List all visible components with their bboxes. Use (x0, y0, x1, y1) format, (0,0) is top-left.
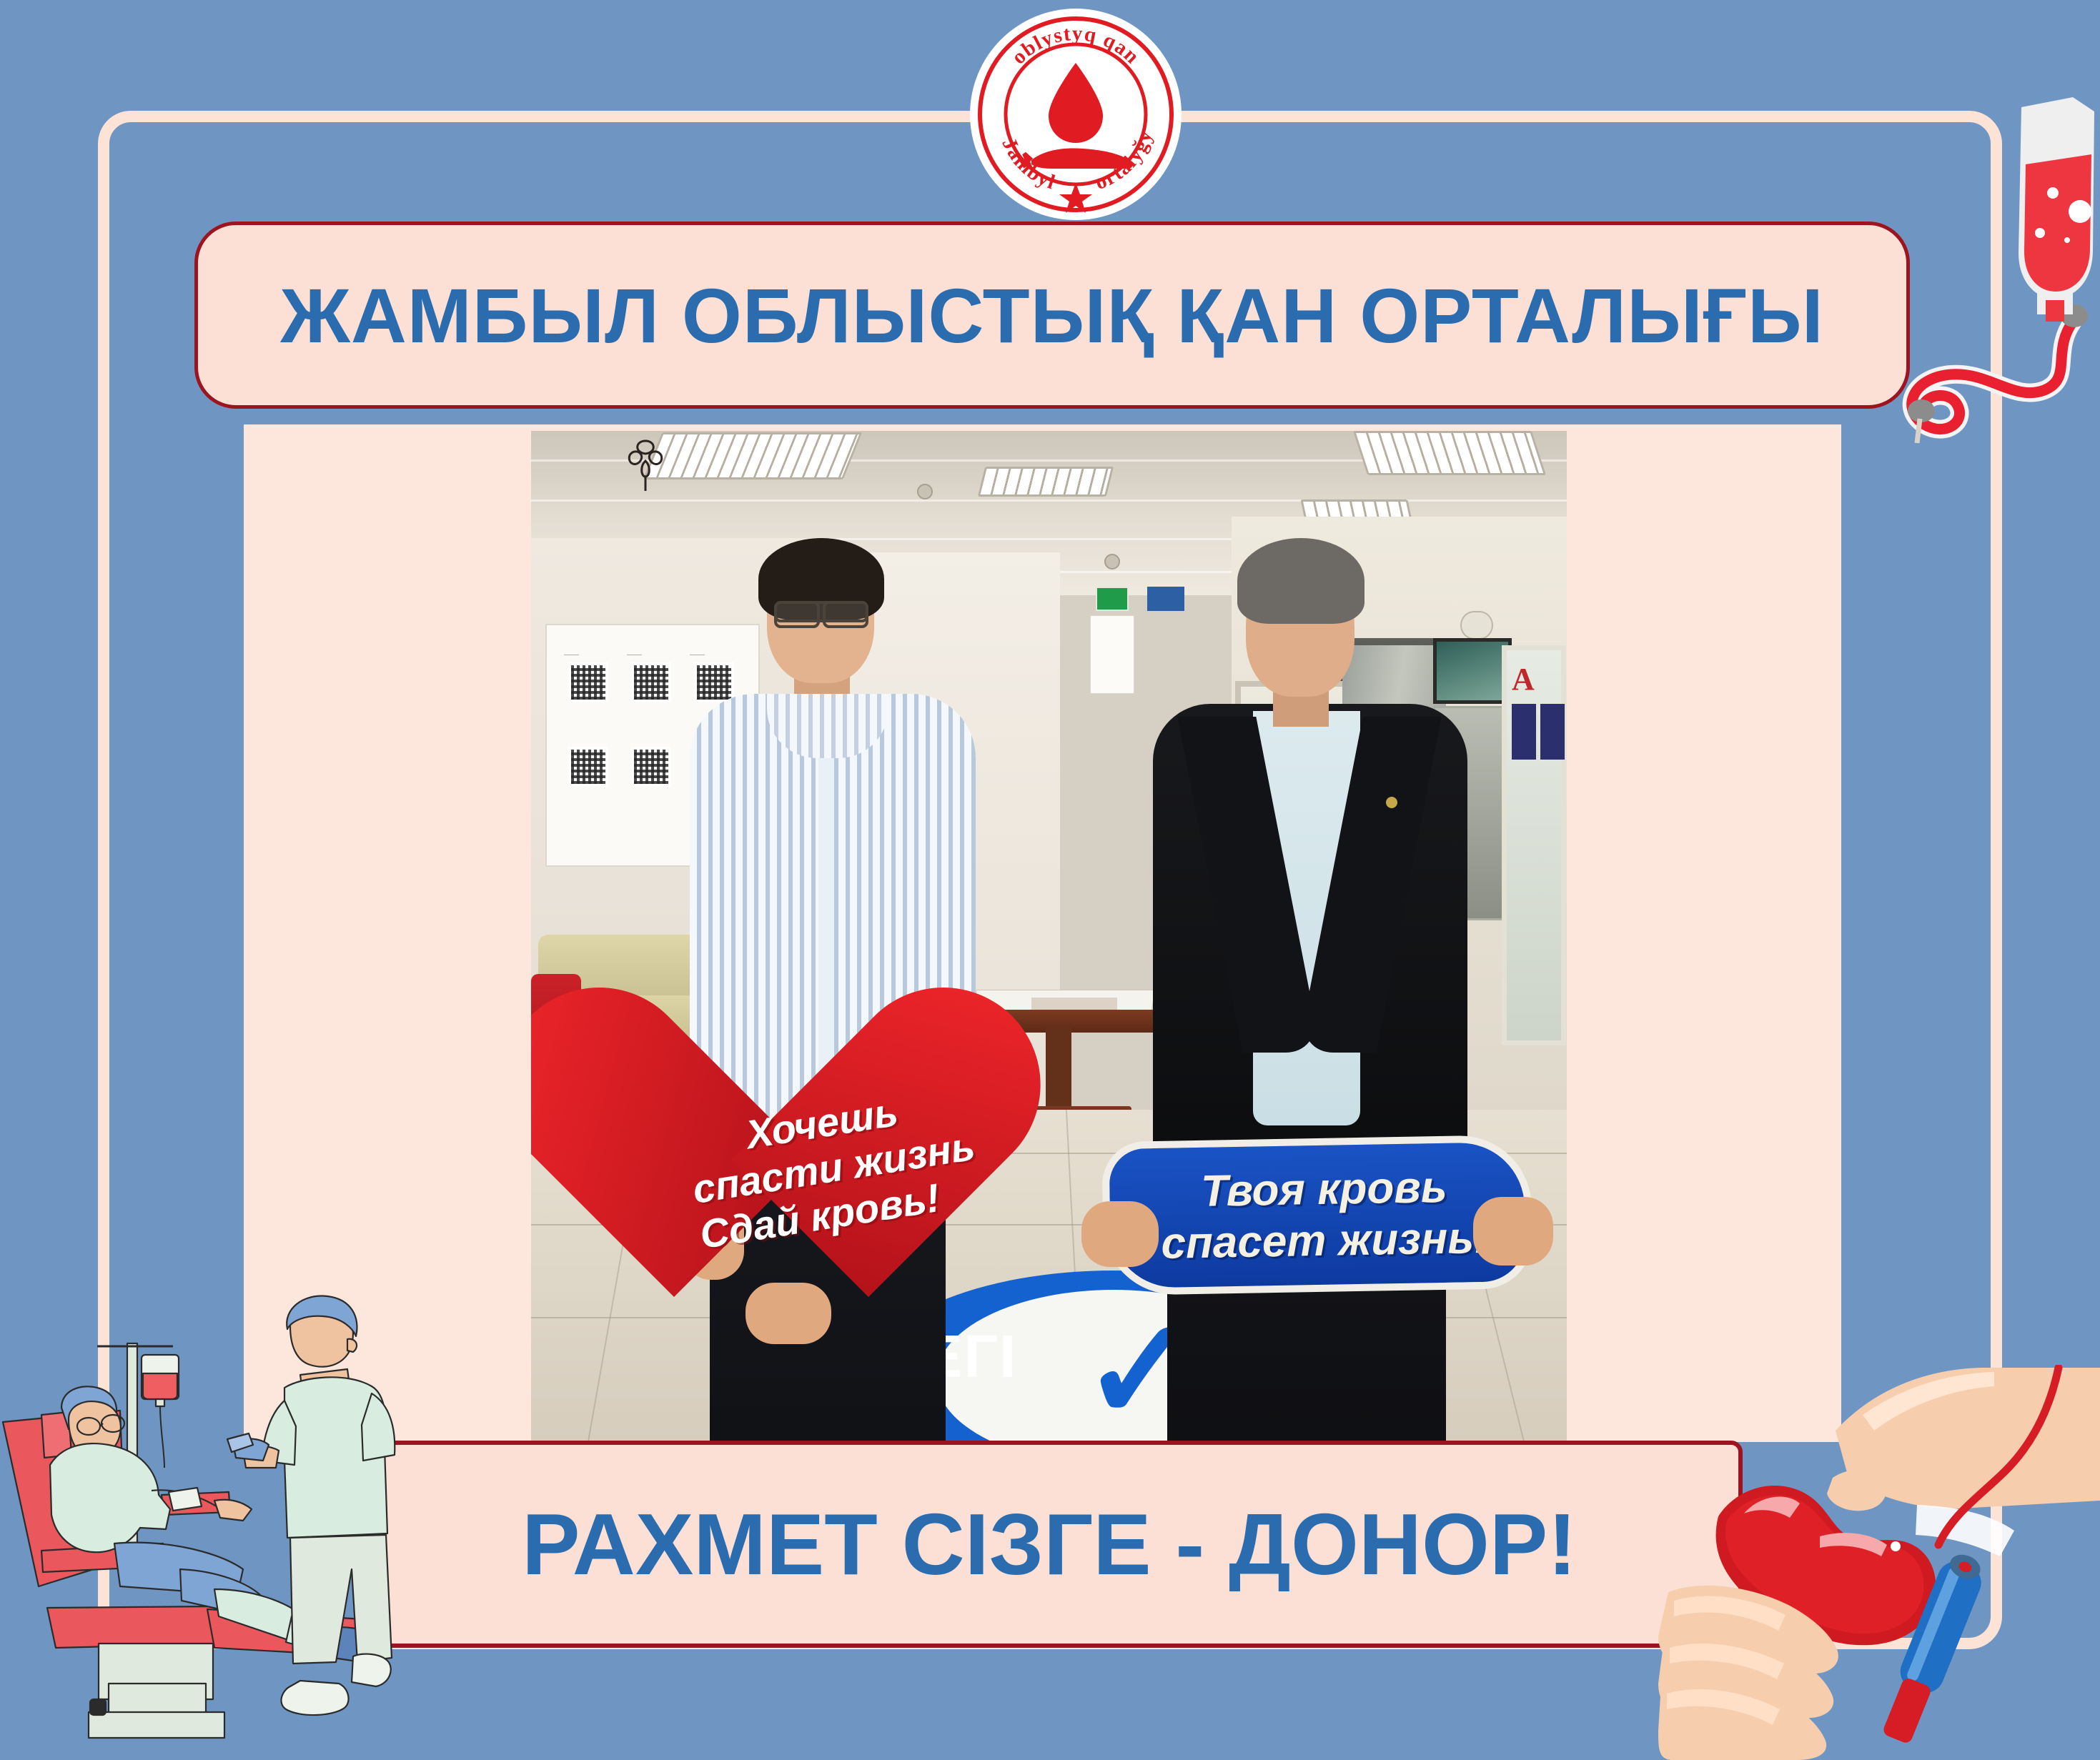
person-right-hand-right (1473, 1197, 1553, 1266)
blue-sign-line-2: спасет жизнь! (1127, 1212, 1522, 1271)
person-left-hand-lower (746, 1283, 831, 1344)
hand-squeeze-ball-illustration (1658, 1365, 2100, 1760)
blue-sign-line-1: Твоя кровь (1126, 1160, 1522, 1219)
wall-ornament-icon (624, 437, 667, 492)
title-banner: ЖАМБЫЛ ОБЛЫСТЫҚ ҚАН ОРТАЛЫҒЫ (194, 222, 1910, 409)
emergency-exit-sign (1096, 587, 1129, 611)
blood-bag-icon (2019, 97, 2094, 322)
blue-sign-text: Твоя кровь спасет жизнь! (1126, 1160, 1522, 1271)
person-right-hair (1237, 538, 1364, 624)
blue-wall-plate (1147, 587, 1184, 611)
room-letter-sign: A (1512, 661, 1535, 697)
coffee-table-column (1046, 1028, 1071, 1113)
person-left-glasses (774, 601, 868, 622)
red-heart-sign: Хочешь спасти жизнь Сдай кровь! (665, 990, 1037, 1347)
jambyl-blood-centre-logo-icon: oblystyq qan Jambyl ortalyğy (969, 7, 1183, 222)
caption-banner: РАХМЕТ СІЗГЕ - ДОНОР! (356, 1441, 1743, 1648)
blood-bag-illustration (1737, 86, 2100, 486)
page-title: ЖАМБЫЛ ОБЛЫСТЫҚ ҚАН ОРТАЛЫҒЫ (280, 271, 1824, 360)
caption-text: РАХМЕТ СІЗГЕ - ДОНОР! (522, 1494, 1577, 1594)
donor-photo: ——— ——— ——— A ТЕГІ (531, 431, 1567, 1441)
wall-monitor (1433, 638, 1512, 704)
blue-sign: Твоя кровь спасет жизнь! (1101, 1135, 1533, 1296)
iv-tube-icon (1908, 304, 2088, 443)
door-notice (1090, 615, 1134, 694)
lapel-pin (1386, 797, 1397, 808)
blood-donation-scene-illustration (0, 1286, 443, 1760)
person-right-hand-left (1081, 1201, 1159, 1267)
corridor-lamp (1460, 611, 1493, 640)
